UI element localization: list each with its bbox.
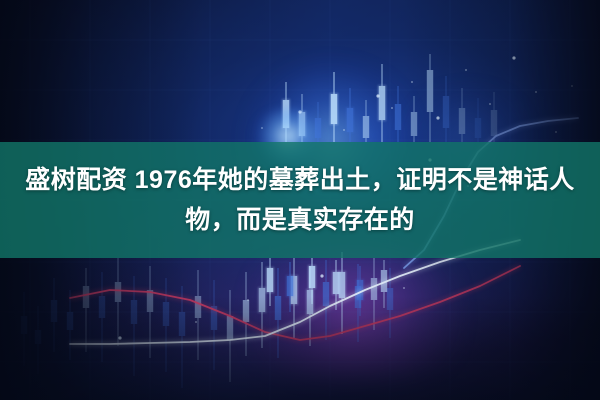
headline-band: 盛树配资 1976年她的墓葬出土，证明不是神话人物，而是真实存在的 <box>0 142 600 258</box>
banner-image: 盛树配资 1976年她的墓葬出土，证明不是神话人物，而是真实存在的 <box>0 0 600 400</box>
headline-text: 盛树配资 1976年她的墓葬出土，证明不是神话人物，而是真实存在的 <box>22 160 578 240</box>
